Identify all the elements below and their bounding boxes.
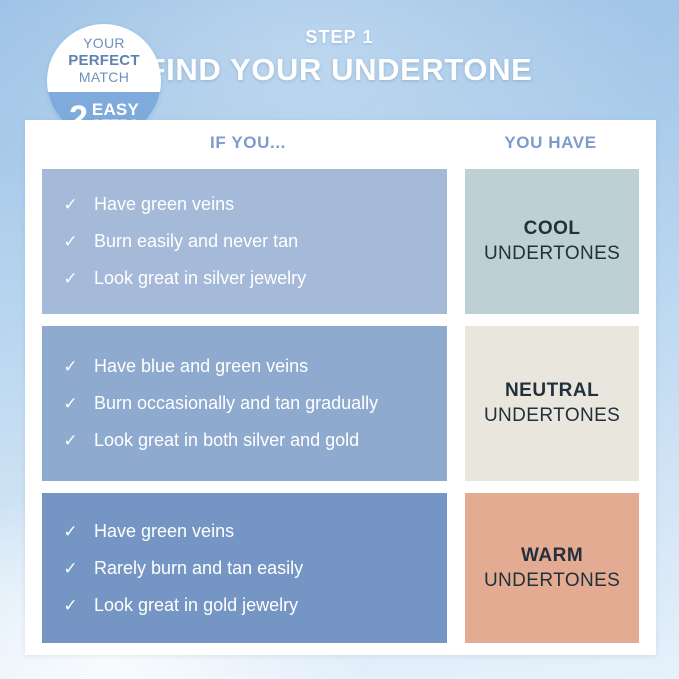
criteria-text: Burn occasionally and tan gradually (94, 391, 431, 416)
table-row: ✓ Have blue and green veins ✓ Burn occas… (42, 326, 639, 481)
result-cell-warm: WARM UNDERTONES (465, 493, 639, 643)
check-icon: ✓ (62, 519, 79, 544)
criteria-text: Burn easily and never tan (94, 229, 431, 254)
criteria-text: Have green veins (94, 192, 431, 217)
criteria-cell: ✓ Have green veins ✓ Burn easily and nev… (42, 169, 447, 314)
criteria-text: Look great in gold jewelry (94, 593, 431, 618)
check-icon: ✓ (62, 428, 79, 453)
criteria-text: Look great in silver jewelry (94, 266, 431, 291)
check-icon: ✓ (62, 391, 79, 416)
criteria-text: Have green veins (94, 519, 431, 544)
check-icon: ✓ (62, 556, 79, 581)
criteria-cell: ✓ Have green veins ✓ Rarely burn and tan… (42, 493, 447, 643)
list-item: ✓ Look great in gold jewelry (62, 587, 431, 624)
criteria-text: Rarely burn and tan easily (94, 556, 431, 581)
column-headers: IF YOU... YOU HAVE (25, 133, 656, 159)
result-subtitle: UNDERTONES (484, 403, 620, 428)
column-header-you-have: YOU HAVE (462, 133, 639, 153)
list-item: ✓ Have green veins (62, 513, 431, 550)
check-icon: ✓ (62, 354, 79, 379)
check-icon: ✓ (62, 229, 79, 254)
list-item: ✓ Burn occasionally and tan gradually (62, 385, 431, 422)
badge-word-easy: EASY (92, 102, 139, 117)
list-item: ✓ Look great in silver jewelry (62, 260, 431, 297)
check-icon: ✓ (62, 266, 79, 291)
result-subtitle: UNDERTONES (484, 568, 620, 593)
result-name: NEUTRAL (505, 379, 599, 403)
list-item: ✓ Burn easily and never tan (62, 223, 431, 260)
badge-line-2: PERFECT (47, 52, 161, 69)
check-icon: ✓ (62, 593, 79, 618)
result-name: WARM (521, 544, 583, 568)
result-cell-cool: COOL UNDERTONES (465, 169, 639, 314)
badge-top-text: YOUR PERFECT MATCH (47, 35, 161, 86)
badge-line-1: YOUR (47, 35, 161, 52)
list-item: ✓ Look great in both silver and gold (62, 422, 431, 459)
list-item: ✓ Have blue and green veins (62, 348, 431, 385)
badge-line-3: MATCH (47, 69, 161, 86)
table-row: ✓ Have green veins ✓ Burn easily and nev… (42, 169, 639, 314)
check-icon: ✓ (62, 192, 79, 217)
result-cell-neutral: NEUTRAL UNDERTONES (465, 326, 639, 481)
content-card: IF YOU... YOU HAVE ✓ Have green veins ✓ … (25, 120, 656, 655)
criteria-cell: ✓ Have blue and green veins ✓ Burn occas… (42, 326, 447, 481)
criteria-text: Look great in both silver and gold (94, 428, 431, 453)
result-name: COOL (524, 217, 581, 241)
list-item: ✓ Have green veins (62, 186, 431, 223)
result-subtitle: UNDERTONES (484, 241, 620, 266)
column-header-if-you: IF YOU... (42, 133, 454, 153)
criteria-text: Have blue and green veins (94, 354, 431, 379)
undertone-rows: ✓ Have green veins ✓ Burn easily and nev… (42, 169, 639, 643)
undertone-infographic: STEP 1 FIND YOUR UNDERTONE YOUR PERFECT … (0, 0, 679, 679)
list-item: ✓ Rarely burn and tan easily (62, 550, 431, 587)
table-row: ✓ Have green veins ✓ Rarely burn and tan… (42, 493, 639, 643)
